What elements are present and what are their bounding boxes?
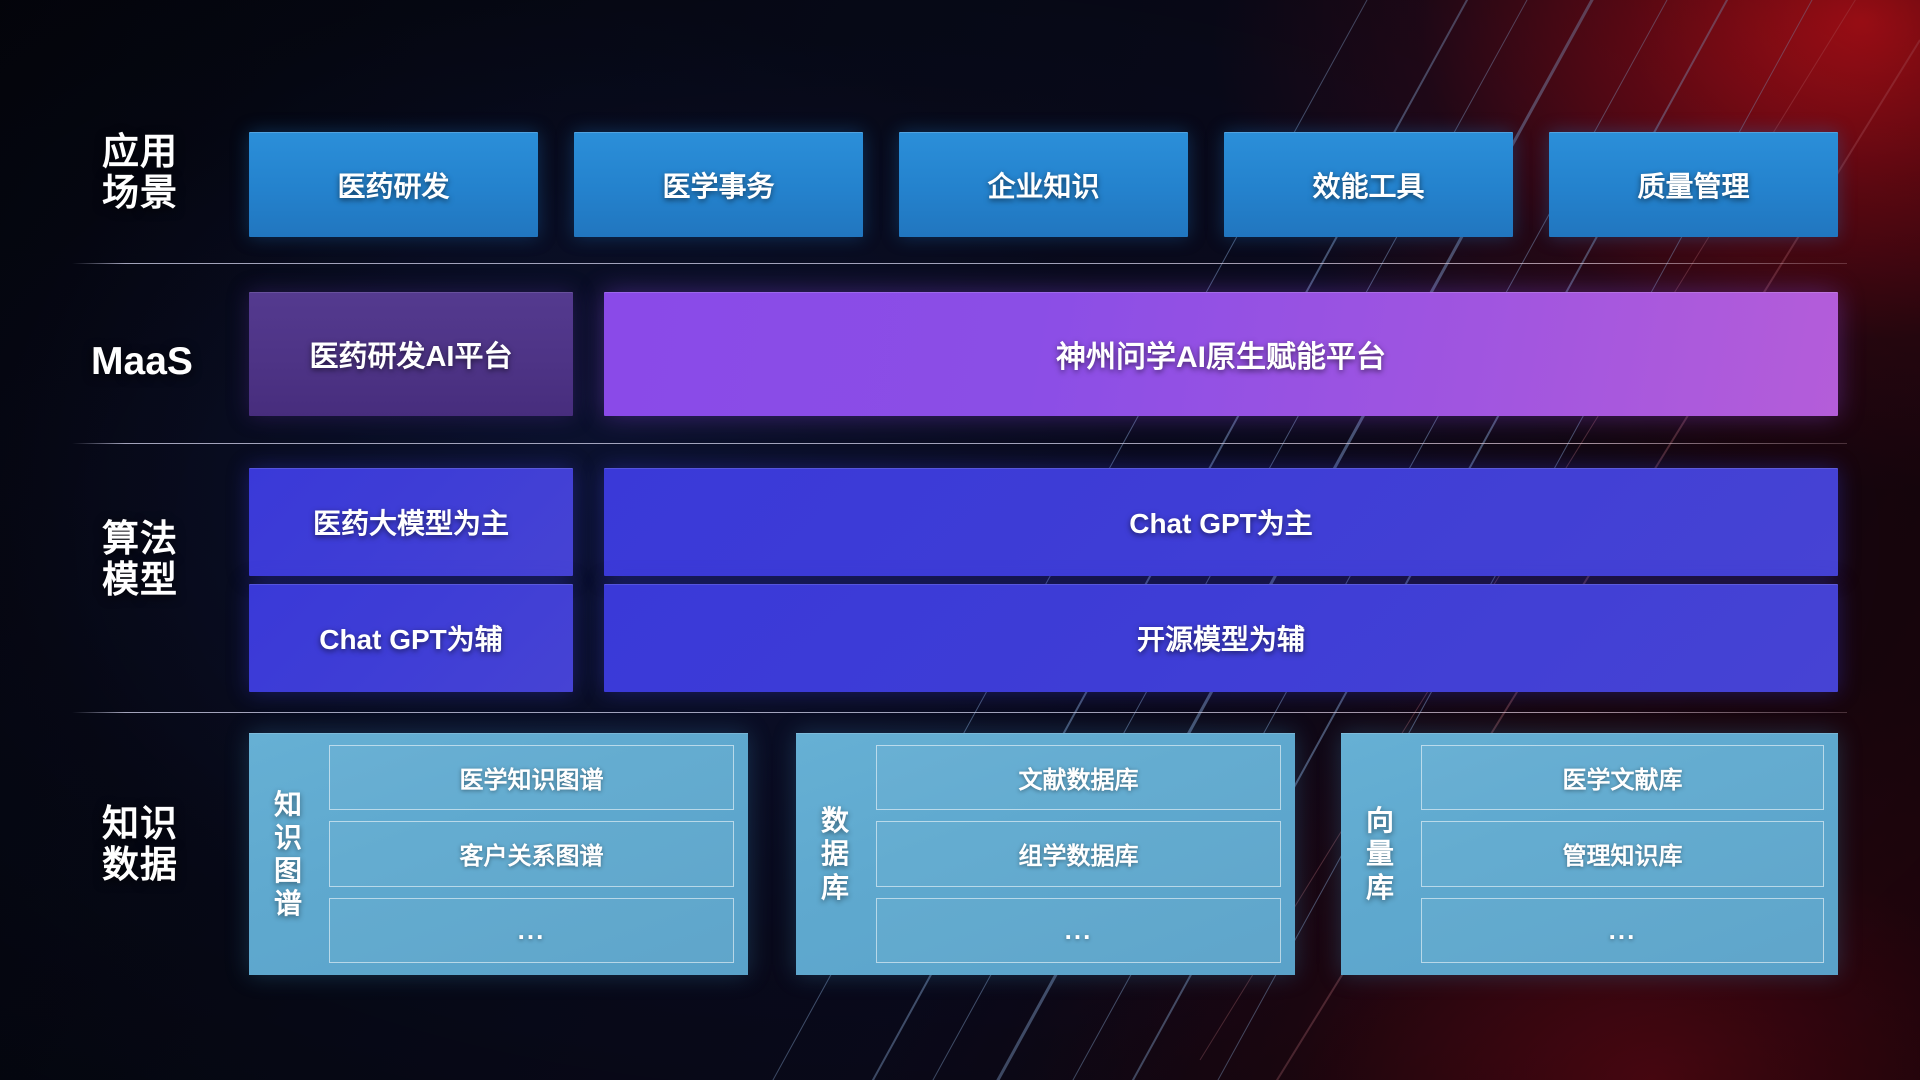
app-card-3[interactable]: 效能工具 — [1224, 132, 1513, 237]
algorithm-card-left-0[interactable]: 医药大模型为主 — [249, 468, 573, 576]
knowledge-panel-items: 文献数据库 组学数据库 ... — [876, 745, 1281, 963]
knowledge-panel-items: 医学知识图谱 客户关系图谱 ... — [329, 745, 734, 963]
maas-card-right-label: 神州问学AI原生赋能平台 — [1056, 332, 1386, 376]
knowledge-item[interactable]: 文献数据库 — [876, 745, 1281, 810]
app-card-0[interactable]: 医药研发 — [249, 132, 538, 237]
row-label-application: 应用 场景 — [80, 131, 200, 214]
app-card-4[interactable]: 质量管理 — [1549, 132, 1838, 237]
row-label-knowledge: 知识 数据 — [80, 803, 200, 886]
knowledge-panel-1[interactable]: 数 据 库 文献数据库 组学数据库 ... — [796, 733, 1295, 975]
knowledge-panel-items: 医学文献库 管理知识库 ... — [1421, 745, 1824, 963]
maas-card-right[interactable]: 神州问学AI原生赋能平台 — [604, 292, 1838, 416]
architecture-diagram: 应用 场景 医药研发 医学事务 企业知识 效能工具 质量管理 MaaS 医药研发… — [0, 0, 1920, 1080]
maas-card-left[interactable]: 医药研发AI平台 — [249, 292, 573, 416]
knowledge-panel-0[interactable]: 知 识 图 谱 医学知识图谱 客户关系图谱 ... — [249, 733, 748, 975]
app-card-label: 质量管理 — [1637, 165, 1749, 205]
app-card-2[interactable]: 企业知识 — [899, 132, 1188, 237]
knowledge-item[interactable]: 组学数据库 — [876, 821, 1281, 886]
algorithm-card-label: 医药大模型为主 — [313, 502, 509, 542]
algorithm-card-right-0[interactable]: Chat GPT为主 — [604, 468, 1838, 576]
divider-application-maas — [72, 263, 1847, 264]
app-card-label: 效能工具 — [1312, 165, 1424, 205]
knowledge-panel-title: 知 识 图 谱 — [261, 745, 315, 963]
row-label-maas: MaaS — [72, 340, 212, 384]
app-card-1[interactable]: 医学事务 — [574, 132, 863, 237]
knowledge-item[interactable]: ... — [329, 898, 734, 963]
knowledge-item[interactable]: 医学知识图谱 — [329, 745, 734, 810]
knowledge-panel-2[interactable]: 向 量 库 医学文献库 管理知识库 ... — [1341, 733, 1838, 975]
knowledge-item[interactable]: 客户关系图谱 — [329, 821, 734, 886]
knowledge-item[interactable]: 管理知识库 — [1421, 821, 1824, 886]
app-card-label: 医学事务 — [662, 165, 774, 205]
algorithm-card-left-1[interactable]: Chat GPT为辅 — [249, 584, 573, 692]
algorithm-card-right-1[interactable]: 开源模型为辅 — [604, 584, 1838, 692]
divider-maas-algorithm — [72, 443, 1847, 444]
divider-algorithm-knowledge — [72, 712, 1847, 713]
app-card-label: 医药研发 — [337, 165, 449, 205]
maas-card-left-label: 医药研发AI平台 — [309, 333, 512, 375]
row-label-algorithm: 算法 模型 — [80, 518, 200, 601]
knowledge-item[interactable]: 医学文献库 — [1421, 745, 1824, 810]
knowledge-panel-title: 向 量 库 — [1353, 745, 1407, 963]
app-card-label: 企业知识 — [987, 165, 1099, 205]
knowledge-item[interactable]: ... — [1421, 898, 1824, 963]
knowledge-panel-title: 数 据 库 — [808, 745, 862, 963]
algorithm-card-label: Chat GPT为辅 — [319, 618, 503, 658]
algorithm-card-label: 开源模型为辅 — [1137, 618, 1305, 658]
algorithm-card-label: Chat GPT为主 — [1129, 502, 1313, 542]
knowledge-item[interactable]: ... — [876, 898, 1281, 963]
